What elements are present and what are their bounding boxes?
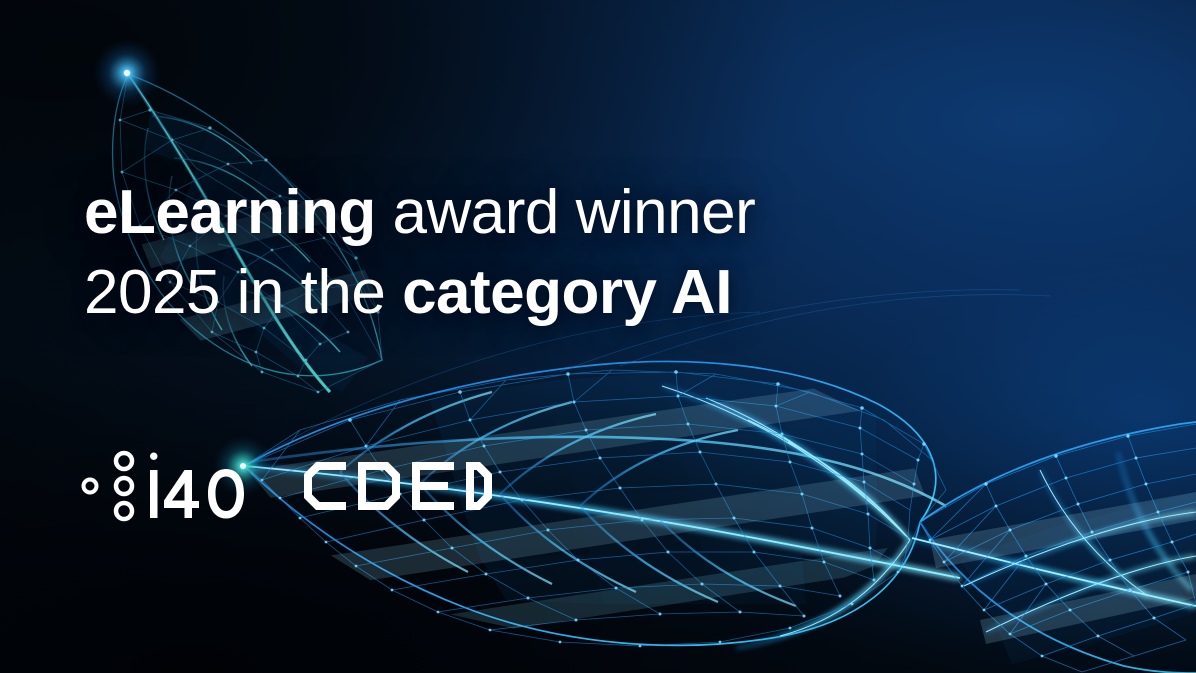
headline-block: eLearning award winner 2025 in the categ… bbox=[84, 182, 984, 324]
logo-coeo bbox=[302, 448, 492, 524]
logo-i40 bbox=[78, 448, 250, 524]
logo-row bbox=[78, 448, 492, 524]
headline-line-2: 2025 in the category AI bbox=[84, 262, 984, 324]
i40-dot-pattern bbox=[84, 453, 133, 519]
headline-line1-bold: eLearning bbox=[84, 178, 376, 247]
headline-line2-light: 2025 in the bbox=[84, 258, 385, 327]
i40-wordmark bbox=[150, 453, 244, 519]
lower-right-leaf bbox=[912, 422, 1196, 673]
headline-line1-light: award winner bbox=[393, 178, 756, 247]
glow-point-upper-leaf-tip bbox=[93, 39, 161, 107]
i40-logo-mark bbox=[78, 448, 250, 524]
headline-line2-bold: category AI bbox=[402, 258, 732, 327]
wireframe-leaf-artwork bbox=[0, 0, 1196, 673]
award-banner: eLearning award winner 2025 in the categ… bbox=[0, 0, 1196, 673]
headline-line-1: eLearning award winner bbox=[84, 182, 984, 244]
coeo-logo-mark bbox=[302, 460, 492, 512]
coeo-wordmark bbox=[304, 462, 492, 510]
